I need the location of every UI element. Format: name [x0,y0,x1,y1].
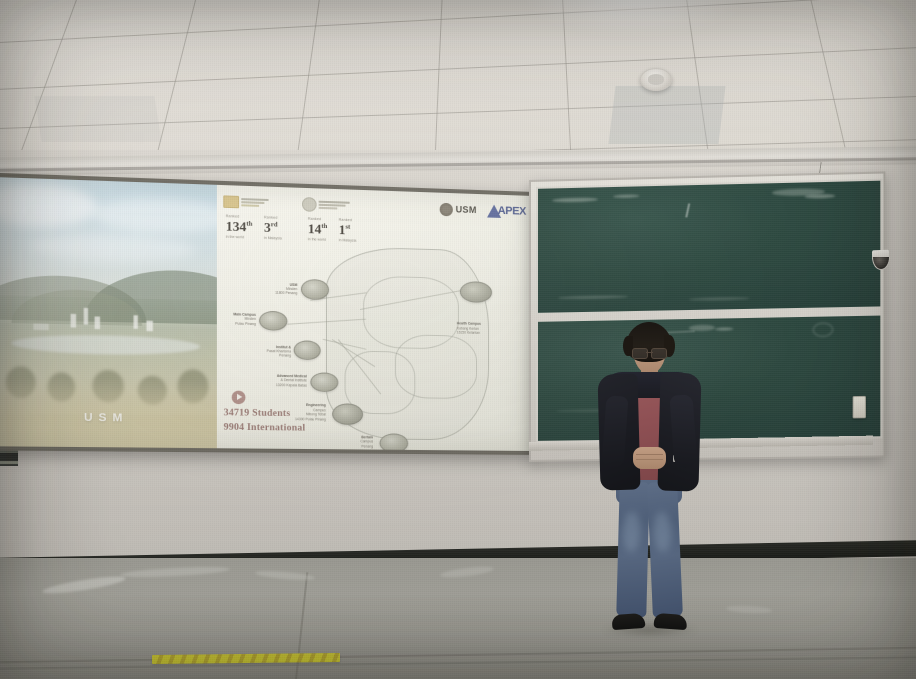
floor-scuff-2 [120,565,230,579]
lecture-hall-photo: USM [0,0,916,679]
rankings-logo-swatch [224,195,240,208]
marker-main-campus-minden[interactable] [259,311,287,331]
ranking-1st: Ranked 1st in Malaysia [339,218,357,242]
presenter-leg-left [616,482,650,618]
ceiling-light-fixture [640,68,672,91]
presenter-jeans [618,482,680,617]
floor-scuff-5 [726,605,772,614]
chalkboard-eraser[interactable] [853,396,866,418]
international-count: 9904 International [224,421,306,437]
water-body [11,334,200,356]
impact-logo-bars [319,200,350,210]
marker-label-health: Health Campus Kubang Kerian 16150 Kelant… [457,321,530,336]
rankings-row: Ranked 134th in the world Ranked 3rd in … [226,214,357,242]
ceiling-tile-shaded [608,86,725,144]
rankings-logo-bars [242,198,269,208]
slide-stats: 34719 Students 9904 International [224,406,306,437]
ranking-14th: Ranked 14th in the world [308,217,328,242]
presenter-shoe-right [654,613,688,630]
floor-scuff [42,573,127,596]
the-impact-rankings-logo [302,198,350,213]
usm-logo-text: USM [456,204,477,215]
building-2 [84,308,88,325]
students-count: 34719 Students [224,406,306,422]
building-6 [34,323,49,330]
usm-logo: USM [439,202,476,216]
building-4 [133,315,137,329]
floor-seam-2 [0,647,916,663]
ranking-3rd: Ranked 3rd in Malaysia [264,215,282,240]
presenter-shoe-left [612,613,646,630]
ranking-value-2: 3rd [264,220,278,234]
building-3 [95,317,100,330]
marker-label-minden: Main Campus Minden Pulau Pinang [217,312,256,327]
slide-photo-panel: USM [0,177,217,448]
glasses-icon [631,348,668,357]
presenter-leg-right [647,481,683,617]
presenter [588,322,712,658]
usm-crest-icon [439,202,452,216]
apex-logo-text: APEX [498,205,526,218]
ranking-value-3: 14th [308,222,328,236]
marker-health-campus-kelantan[interactable] [460,281,492,303]
impact-logo-circle [302,197,317,212]
marker-label-bertam: Bertam Campus Penang [307,434,373,448]
marker-institut-perubatan[interactable] [294,341,321,361]
suspended-ceiling [0,0,916,165]
presenter-clasped-hands [633,447,666,469]
building [70,313,75,327]
world-university-rankings-logo [224,195,269,210]
apex-logo: APEX [487,204,526,218]
ranking-value-4: 1st [339,223,351,237]
floor-scuff-4 [440,565,495,580]
marker-usm-main-campus[interactable] [301,278,329,299]
marker-advanced-medical-dental[interactable] [310,372,338,392]
marker-label-institut: Institut & Pusat Kharisma Penang [230,344,291,359]
marker-label-amdi: Advanced Medical & Dental Institute 1320… [243,373,307,388]
marker-label-usm-main: USM Minden 11800 Penang [224,281,298,297]
blackboard-upper-panel[interactable] [536,179,882,315]
usm-watermark: USM [0,411,217,426]
marker-bertam-campus[interactable] [379,433,408,451]
ranking-value: 134th [226,219,253,233]
ceiling-tile-shaded-2 [34,96,161,142]
projection-screen[interactable]: USM [0,173,534,455]
slide-info-panel: USM APEX Ranked 134th in the world Ranke… [217,185,530,451]
ranking-134th: Ranked 134th in the world [226,214,253,239]
building-5 [146,320,152,331]
floor [0,558,916,679]
projected-slide: USM [0,177,530,451]
